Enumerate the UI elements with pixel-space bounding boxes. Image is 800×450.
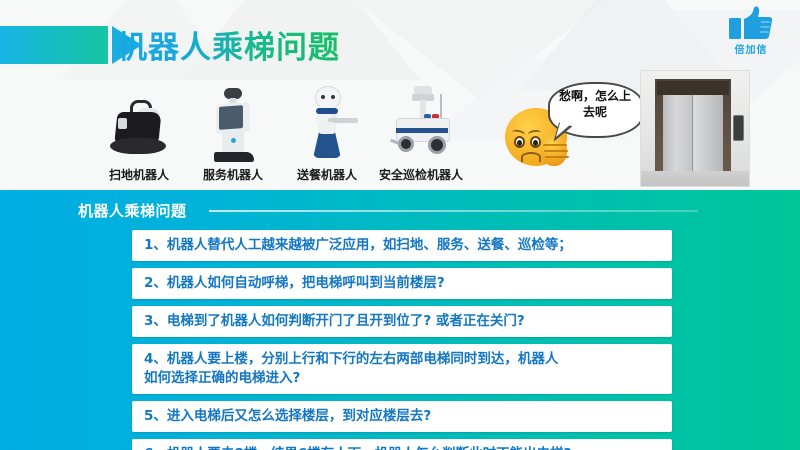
section-header: 机器人乘梯问题 <box>78 200 698 221</box>
question-text: 4、机器人要上楼，分别上行和下行的左右两部电梯同时到达，机器人 如何选择正确的电… <box>144 350 662 388</box>
service-robot-image <box>198 86 268 164</box>
question-item: 6、机器人要去8楼，结果6楼有人下，机器人怎么判断此时不能出电梯? <box>132 439 672 450</box>
header-band: 机器人乘梯问题 倍加信 <box>0 0 800 190</box>
robot-item-delivery: 送餐机器人 <box>283 86 371 183</box>
section-title: 机器人乘梯问题 <box>78 200 187 221</box>
main-content: 机器人乘梯问题 1、机器人替代人工越来越被广泛应用，如扫地、服务、送餐、巡检等；… <box>0 190 800 450</box>
security-patrol-robot-image <box>386 86 456 164</box>
page-title: 机器人乘梯问题 <box>116 22 340 67</box>
robot-item-sweeper: 扫地机器人 <box>95 86 183 183</box>
slide-root: 机器人乘梯问题 倍加信 <box>0 0 800 450</box>
question-text: 5、进入电梯后又怎么选择楼层，到对应楼层去? <box>144 407 662 426</box>
robot-label: 扫地机器人 <box>95 166 183 183</box>
thumbs-up-icon <box>728 6 774 40</box>
section-divider <box>209 210 698 212</box>
question-text: 2、机器人如何自动呼梯，把电梯呼叫到当前楼层? <box>144 274 662 293</box>
robot-label: 服务机器人 <box>189 166 277 183</box>
robot-item-patrol: 安全巡检机器人 <box>377 86 465 183</box>
question-item: 5、进入电梯后又怎么选择楼层，到对应楼层去? <box>132 401 672 432</box>
brand-name: 倍加信 <box>720 41 782 56</box>
question-item: 1、机器人替代人工越来越被广泛应用，如扫地、服务、送餐、巡检等； <box>132 230 672 261</box>
question-item: 4、机器人要上楼，分别上行和下行的左右两部电梯同时到达，机器人 如何选择正确的电… <box>132 344 672 394</box>
question-item: 2、机器人如何自动呼梯，把电梯呼叫到当前楼层? <box>132 268 672 299</box>
elevator-call-panel-icon <box>733 115 744 141</box>
elevator-door-photo <box>640 70 750 187</box>
speech-bubble-text: 愁啊，怎么上去呢 <box>556 88 634 120</box>
brand-logo: 倍加信 <box>720 6 782 56</box>
title-accent-bar <box>0 26 108 64</box>
robot-label: 送餐机器人 <box>283 166 371 183</box>
sweeping-robot-image <box>104 86 174 164</box>
question-item: 3、电梯到了机器人如何判断开门了且开到位了? 或者正在关门? <box>132 306 672 337</box>
robot-gallery: 扫地机器人 服务机器人 <box>95 78 465 183</box>
question-text: 6、机器人要去8楼，结果6楼有人下，机器人怎么判断此时不能出电梯? <box>144 445 662 450</box>
question-list: 1、机器人替代人工越来越被广泛应用，如扫地、服务、送餐、巡检等； 2、机器人如何… <box>132 230 672 450</box>
robot-label: 安全巡检机器人 <box>377 166 465 183</box>
delivery-robot-image <box>292 86 362 164</box>
robot-item-service: 服务机器人 <box>189 86 277 183</box>
question-text: 1、机器人替代人工越来越被广泛应用，如扫地、服务、送餐、巡检等； <box>144 236 662 255</box>
question-text: 3、电梯到了机器人如何判断开门了且开到位了? 或者正在关门? <box>144 312 662 331</box>
